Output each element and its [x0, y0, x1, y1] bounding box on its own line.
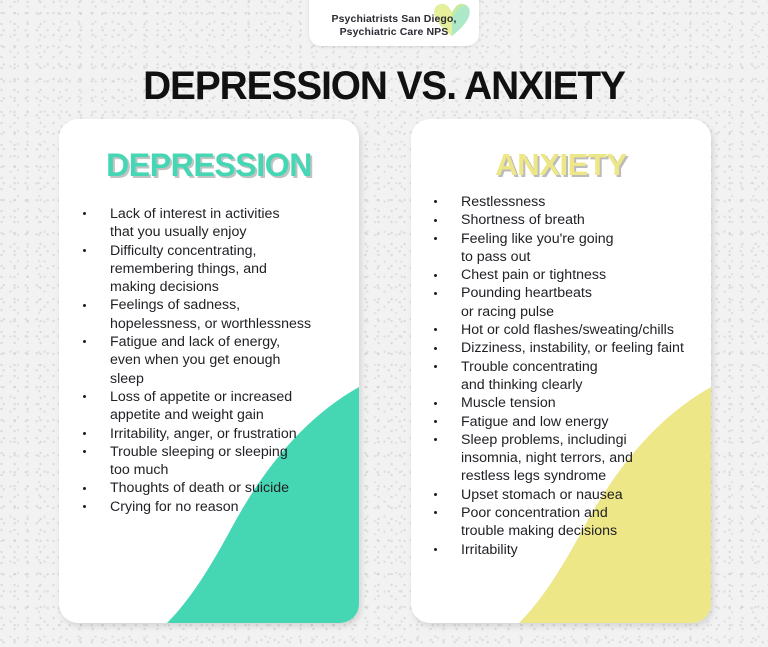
list-item: Upset stomach or nausea — [430, 486, 703, 504]
anxiety-card: ANXIETY Restlessness Shortness of breath… — [411, 119, 711, 623]
page-title: DEPRESSION VS. ANXIETY — [12, 64, 757, 109]
list-item: Poor concentration and trouble making de… — [430, 504, 703, 541]
list-item: Crying for no reason — [79, 498, 349, 516]
list-item: Thoughts of death or suicide — [79, 479, 349, 497]
list-item: Loss of appetite or increased appetite a… — [79, 388, 349, 425]
list-item: Difficulty concentrating, remembering th… — [79, 242, 349, 297]
list-item: Trouble sleeping or sleeping too much — [79, 443, 349, 480]
list-item: Hot or cold flashes/sweating/chills — [430, 321, 703, 339]
list-item: Lack of interest in activities that you … — [79, 205, 349, 242]
list-item: Dizziness, instability, or feeling faint — [430, 339, 703, 357]
list-item: Feelings of sadness, hopelessness, or wo… — [79, 296, 349, 333]
list-item: Restlessness — [430, 193, 703, 211]
depression-card: DEPRESSION Lack of interest in activitie… — [59, 119, 359, 623]
anxiety-symptom-list: Restlessness Shortness of breath Feeling… — [411, 193, 711, 559]
depression-heading: DEPRESSION — [59, 147, 359, 184]
list-item: Trouble concentrating and thinking clear… — [430, 358, 703, 395]
list-item: Sleep problems, includingi insomnia, nig… — [430, 431, 703, 486]
list-item: Muscle tension — [430, 394, 703, 412]
depression-symptom-list: Lack of interest in activities that you … — [59, 205, 359, 516]
list-item: Irritability, anger, or frustration — [79, 425, 349, 443]
list-item: Chest pain or tightness — [430, 266, 703, 284]
brand-logo-text: Psychiatrists San Diego, Psychiatric Car… — [332, 13, 457, 39]
list-item: Fatigue and low energy — [430, 413, 703, 431]
brand-logo-card: Psychiatrists San Diego, Psychiatric Car… — [309, 0, 479, 46]
list-item: Shortness of breath — [430, 211, 703, 229]
list-item: Irritability — [430, 541, 703, 559]
list-item: Pounding heartbeats or racing pulse — [430, 284, 703, 321]
list-item: Feeling like you're going to pass out — [430, 230, 703, 267]
list-item: Fatigue and lack of energy, even when yo… — [79, 333, 349, 388]
anxiety-heading: ANXIETY — [411, 147, 711, 183]
